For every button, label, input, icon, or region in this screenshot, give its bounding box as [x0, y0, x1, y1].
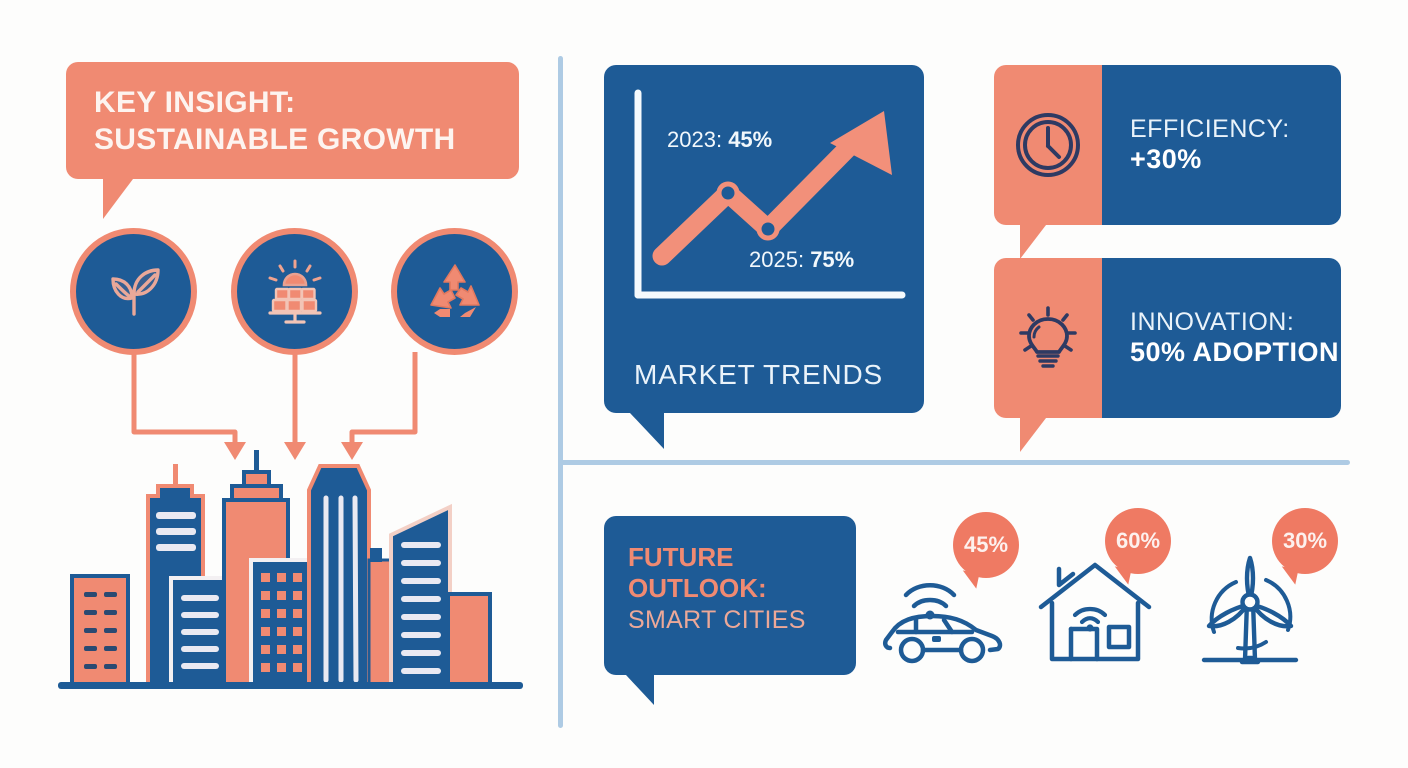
key-insight-text: KEY INSIGHT: SUSTAINABLE GROWTH: [94, 84, 456, 158]
clock-icon: [1012, 109, 1084, 181]
chart-annotation-2023-label: 2023:: [667, 127, 722, 152]
recycle-icon: [420, 257, 490, 327]
percent-bubble-wind: 30%: [1272, 508, 1338, 574]
percent-bubble-car-tail: [960, 570, 980, 588]
key-insight-bubble-tail: [103, 179, 133, 219]
chart-annotation-2025: 2025: 75%: [749, 247, 854, 273]
chart-annotation-2023: 2023: 45%: [667, 127, 772, 153]
pillar-circle-recycle[interactable]: [391, 228, 518, 355]
horizontal-divider: [560, 460, 1350, 465]
future-outlook-subheading: SMART CITIES: [628, 606, 806, 635]
percent-bubble-car: 45%: [953, 512, 1019, 578]
percent-bubble-wind-value: 30%: [1283, 528, 1327, 554]
pillar-circle-leaf[interactable]: [70, 228, 197, 355]
stat-card-innovation[interactable]: INNOVATION: 50% ADOPTION: [994, 258, 1341, 418]
future-outlook-heading: FUTURE OUTLOOK:: [628, 542, 767, 604]
market-trends-card: 2023: 45% 2025: 75% MARKET TRENDS: [604, 65, 924, 413]
chart-annotation-2025-value: 75%: [810, 247, 854, 272]
percent-bubble-home-value: 60%: [1116, 528, 1160, 554]
stat-icon-pane-efficiency: [994, 65, 1102, 225]
stat-value-innovation: 50% ADOPTION: [1130, 337, 1341, 368]
future-outlook-card: FUTURE OUTLOOK: SMART CITIES: [604, 516, 856, 675]
pillar-connector-arrows: [60, 352, 530, 462]
vertical-divider: [558, 56, 563, 728]
stat-icon-pane-innovation: [994, 258, 1102, 418]
lightbulb-icon: [1012, 302, 1084, 374]
key-insight-line1: KEY INSIGHT:: [94, 84, 456, 121]
chart-annotation-2025-label: 2025:: [749, 247, 804, 272]
future-outlook-bubble-tail: [626, 675, 654, 705]
key-insight-line2: SUSTAINABLE GROWTH: [94, 121, 456, 158]
market-trends-bubble-tail: [630, 413, 664, 449]
market-trends-chart: [616, 83, 916, 333]
stat-card-efficiency[interactable]: EFFICIENCY: +30%: [994, 65, 1341, 225]
stat-body-innovation: INNOVATION: 50% ADOPTION: [1102, 258, 1341, 418]
stat-body-efficiency: EFFICIENCY: +30%: [1102, 65, 1341, 225]
stat-value-efficiency: +30%: [1130, 144, 1341, 175]
market-trends-title: MARKET TRENDS: [634, 359, 883, 391]
chart-annotation-2023-value: 45%: [728, 127, 772, 152]
stat-card-efficiency-tail: [1020, 225, 1046, 259]
pillar-circle-solar[interactable]: [231, 228, 358, 355]
stat-label-efficiency: EFFICIENCY:: [1130, 115, 1341, 144]
key-insight-banner: KEY INSIGHT: SUSTAINABLE GROWTH: [66, 62, 519, 179]
percent-bubble-home-tail: [1112, 566, 1132, 584]
future-outlook-line2: OUTLOOK:: [628, 573, 767, 604]
future-outlook-line1: FUTURE: [628, 542, 767, 573]
city-skyline-illustration: [58, 450, 523, 700]
stat-card-innovation-tail: [1020, 418, 1046, 452]
leaf-icon: [98, 256, 170, 328]
percent-bubble-home: 60%: [1105, 508, 1171, 574]
percent-bubble-car-value: 45%: [964, 532, 1008, 558]
percent-bubble-wind-tail: [1279, 566, 1299, 584]
stat-label-innovation: INNOVATION:: [1130, 308, 1341, 337]
solar-panel-icon: [258, 255, 332, 329]
infographic-canvas: KEY INSIGHT: SUSTAINABLE GROWTH: [0, 0, 1408, 768]
